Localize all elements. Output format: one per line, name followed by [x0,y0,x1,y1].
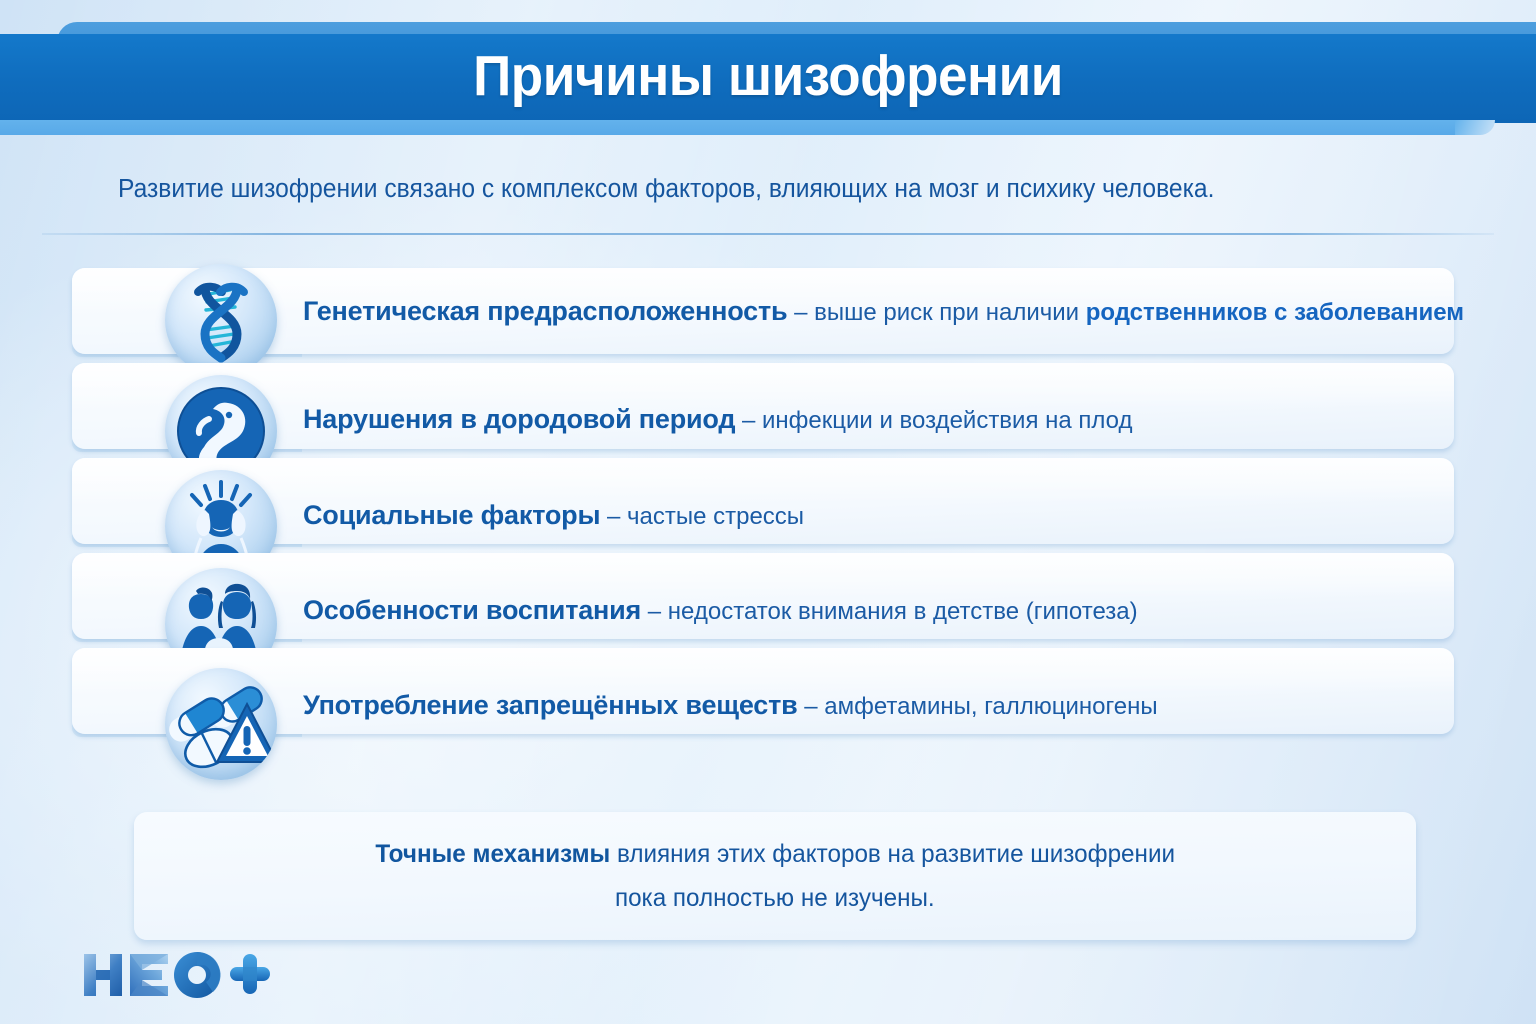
conclusion-box: Точные механизмы влияния этих факторов н… [134,812,1416,940]
factor-description: выше риск при наличии [814,299,1086,326]
factor-description: частые стрессы [627,503,804,530]
factor-text-substances: Употребление запрещённых веществ – амфет… [303,690,1158,721]
factor-title: Употребление запрещённых веществ [303,690,798,720]
pills-warning-icon [165,668,277,780]
row-sheen [72,458,1454,503]
factor-title: Социальные факторы [303,500,600,530]
factor-dash: – [600,503,627,530]
factor-title: Нарушения в дородовой период [303,404,735,434]
neo-plus-logo[interactable] [82,948,272,1002]
factor-description: амфетамины, галлюциногены [824,693,1157,720]
row-sheen [72,648,1454,693]
factor-description-emphasis: родственников с заболеванием [1086,299,1464,326]
conclusion-line-1-rest: влияния этих факторов на развитие шизофр… [610,840,1175,868]
factor-dash: – [787,299,814,326]
row-sheen [72,553,1454,598]
factor-dash: – [641,598,668,625]
factor-text-prenatal: Нарушения в дородовой период – инфекции … [303,404,1133,435]
infographic-page: Причины шизофрении Развитие шизофрении с… [0,0,1536,1024]
factor-title: Генетическая предрасположенность [303,296,787,326]
dna-helix-icon [165,264,277,376]
row-sheen [72,363,1454,408]
conclusion-line-2: пока полностью не изучены. [615,883,935,913]
factor-dash: – [798,693,825,720]
conclusion-line-1: Точные механизмы влияния этих факторов н… [375,839,1175,869]
conclusion-emphasis: Точные механизмы [375,840,610,868]
factor-description: инфекции и воздействия на плод [762,407,1133,434]
factor-text-social: Социальные факторы – частые стрессы [303,500,804,531]
factor-dash: – [735,407,762,434]
factor-title: Особенности воспитания [303,595,641,625]
factor-text-upbringing: Особенности воспитания – недостаток вним… [303,595,1138,626]
factor-text-genetics: Генетическая предрасположенность – выше … [303,296,1464,327]
factor-description: недостаток внимания в детстве (гипотеза) [668,598,1138,625]
